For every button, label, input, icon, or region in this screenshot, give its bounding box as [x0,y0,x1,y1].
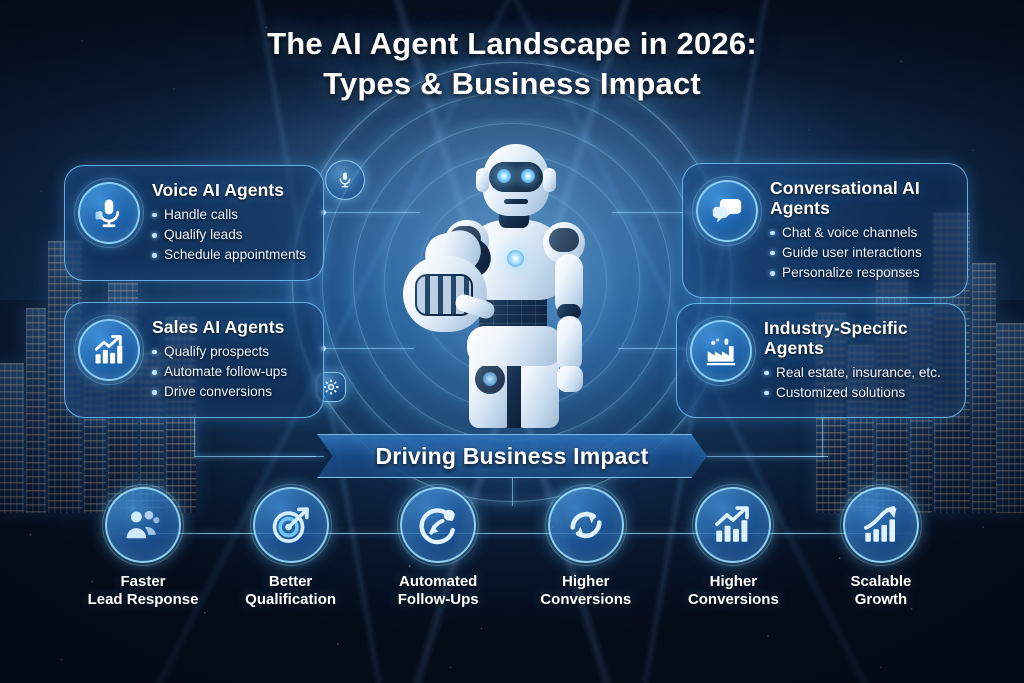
agent-card-bullets: Chat & voice channels Guide user interac… [770,223,953,284]
benefit-scalable-growth[interactable]: ScalableGrowth [816,487,946,609]
benefit-label: AutomatedFollow-Ups [398,573,479,609]
people-group-icon [105,487,181,563]
benefit-label: ScalableGrowth [851,573,912,609]
bullet-item: Personalize responses [770,263,953,283]
benefit-label: HigherConversions [540,573,631,609]
connector-sales-to-robot [324,348,414,349]
microphone-node-icon [325,160,365,200]
bullet-item: Customized solutions [764,383,951,403]
impact-banner: Driving Business Impact [317,434,707,478]
benefit-label: HigherConversions [688,573,779,609]
bar-chart-growth-icon [78,319,140,381]
benefit-label: BetterQualification [245,573,336,609]
benefit-faster-lead-response[interactable]: FasterLead Response [78,487,208,609]
agent-card-bullets: Qualify prospects Automate follow-ups Dr… [152,342,287,403]
benefit-higher-conversions-2[interactable]: HigherConversions [668,487,798,609]
bullet-item: Schedule appointments [152,245,306,265]
infographic-canvas: The AI Agent Landscape in 2026: Types & … [0,0,1024,683]
chat-bubbles-icon [696,180,758,242]
agent-card-title: Voice AI Agents [152,181,306,201]
bullet-item: Automate follow-ups [152,362,287,382]
bullet-item: Qualify prospects [152,342,287,362]
target-arrow-icon [253,487,329,563]
connector-left-down [194,414,195,456]
agent-card-title: Conversational AI Agents [770,179,953,219]
agent-card-sales[interactable]: Sales AI Agents Qualify prospects Automa… [64,302,324,418]
circular-arrow-icon [400,487,476,563]
benefit-automated-follow-ups[interactable]: AutomatedFollow-Ups [373,487,503,609]
bullet-item: Real estate, insurance, etc. [764,363,951,383]
agent-card-industry[interactable]: Industry-Specific Agents Real estate, in… [676,303,966,418]
agent-card-bullets: Handle calls Qualify leads Schedule appo… [152,205,306,266]
agent-card-title: Industry-Specific Agents [764,319,951,359]
connector-right-down [822,414,823,456]
benefit-better-qualification[interactable]: BetterQualification [226,487,356,609]
bullet-item: Guide user interactions [770,243,953,263]
benefit-label: FasterLead Response [88,573,199,609]
growth-chart-icon [843,487,919,563]
factory-icon [690,320,752,382]
connector-voice-to-robot [324,212,420,213]
page-title: The AI Agent Landscape in 2026: Types & … [0,24,1024,103]
banner-wing-left [196,456,316,457]
agent-card-voice[interactable]: Voice AI Agents Handle calls Qualify lea… [64,165,324,281]
microphone-icon [78,182,140,244]
humanoid-ai-robot [397,128,627,428]
benefit-higher-conversions-1[interactable]: HigherConversions [521,487,651,609]
agent-card-bullets: Real estate, insurance, etc. Customized … [764,363,951,404]
agent-card-conversational[interactable]: Conversational AI Agents Chat & voice ch… [682,163,968,298]
banner-wing-right [708,456,828,457]
bullet-item: Drive conversions [152,382,287,402]
impact-banner-label: Driving Business Impact [375,443,648,470]
bullet-item: Qualify leads [152,225,306,245]
bullet-item: Handle calls [152,205,306,225]
refresh-cycle-icon [548,487,624,563]
title-line-2: Types & Business Impact [0,64,1024,104]
benefits-row: FasterLead Response BetterQualification [78,487,946,609]
title-line-1: The AI Agent Landscape in 2026: [267,26,757,61]
agent-card-title: Sales AI Agents [152,318,287,338]
bar-chart-arrow-icon [695,487,771,563]
bullet-item: Chat & voice channels [770,223,953,243]
